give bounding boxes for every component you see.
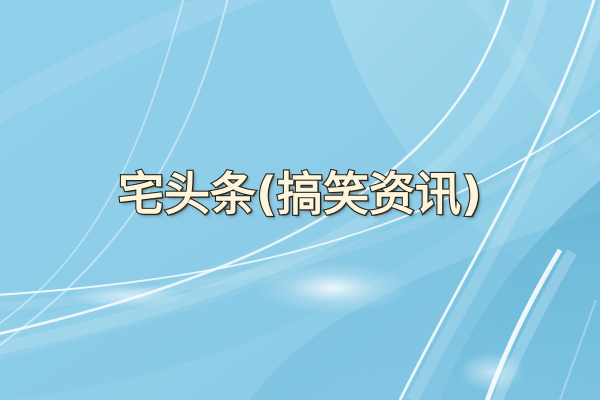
glow-intersection	[255, 262, 411, 314]
banner-image: 宅头条(搞笑资讯)	[0, 0, 600, 400]
glow-lower-left	[68, 284, 188, 308]
background-artwork	[0, 0, 600, 400]
glow-bottom-right	[458, 352, 526, 392]
